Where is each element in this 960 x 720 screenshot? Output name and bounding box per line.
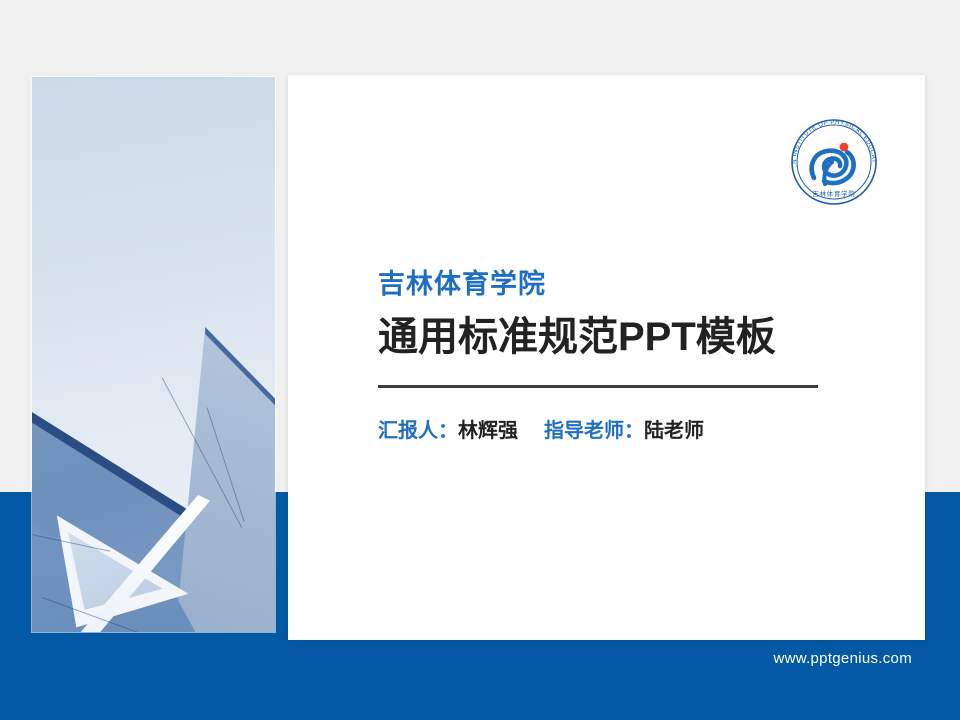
university-logo: JILIN INSTITUTE OF PHYSICAL EDUCATION 吉林… [784,112,884,212]
university-seal-icon: JILIN INSTITUTE OF PHYSICAL EDUCATION 吉林… [784,112,884,212]
logo-red-ball-icon [840,143,849,152]
presentation-slide: JILIN INSTITUTE OF PHYSICAL EDUCATION 吉林… [0,0,960,720]
advisor-label: 指导老师： [544,420,644,442]
title-text-block: 吉林体育学院 通用标准规范PPT模板 汇报人：林辉强指导老师：陆老师 [378,268,823,443]
presenter-label: 汇报人： [378,420,458,442]
page-title: 通用标准规范PPT模板 [378,314,823,360]
advisor-name: 陆老师 [644,420,704,442]
university-name: 吉林体育学院 [378,268,823,300]
footer-website-url[interactable]: www.pptgenius.com [774,650,913,667]
title-divider [378,385,818,388]
cover-photo-image [32,77,275,632]
byline: 汇报人：林辉强指导老师：陆老师 [378,414,823,443]
cover-photo-panel [32,77,275,632]
logo-bottom-text: 吉林体育学院 [812,189,855,198]
presenter-name: 林辉强 [458,420,518,442]
